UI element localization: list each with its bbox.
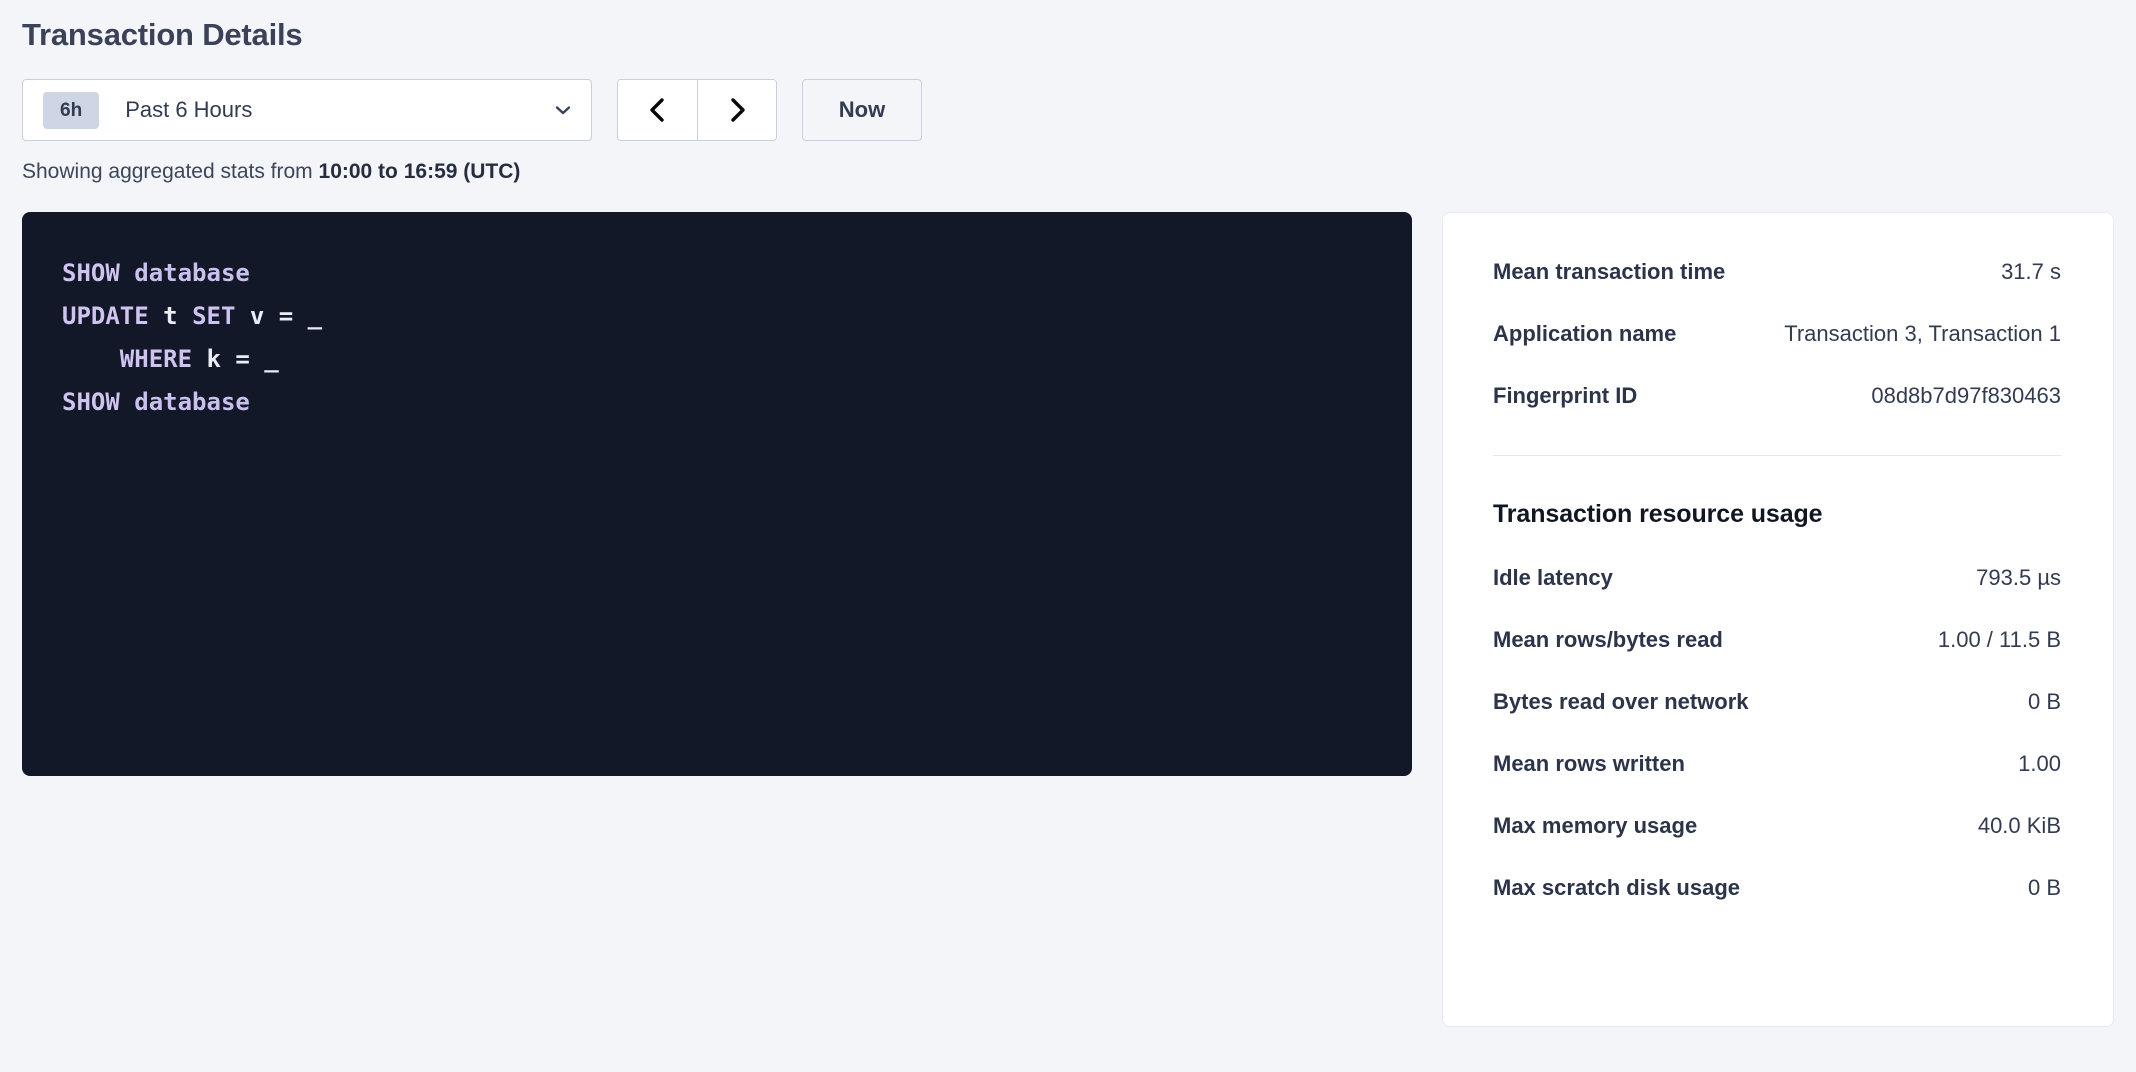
resource-usage-title: Transaction resource usage bbox=[1493, 500, 2061, 529]
aggregation-range-value: 10:00 to 16:59 (UTC) bbox=[319, 160, 521, 183]
code-token: database bbox=[134, 259, 250, 287]
chevron-right-icon bbox=[723, 96, 751, 124]
code-token bbox=[62, 345, 120, 373]
time-range-dropdown[interactable]: 6h Past 6 Hours bbox=[22, 79, 592, 141]
detail-row: Application nameTransaction 3, Transacti… bbox=[1493, 321, 2061, 347]
detail-row-value: 1.00 / 11.5 B bbox=[1938, 627, 2061, 653]
time-range-toolbar: 6h Past 6 Hours bbox=[22, 79, 2114, 141]
detail-row: Mean transaction time31.7 s bbox=[1493, 259, 2061, 285]
transaction-info-card: Mean transaction time31.7 sApplication n… bbox=[1442, 212, 2114, 1027]
detail-row: Mean rows written1.00 bbox=[1493, 751, 2061, 777]
detail-row-value: 31.7 s bbox=[2001, 259, 2061, 285]
transaction-details-page: Transaction Details 6h Past 6 Hours bbox=[0, 0, 2136, 1072]
code-token: database bbox=[134, 388, 250, 416]
detail-row-key: Mean rows/bytes read bbox=[1493, 627, 1723, 653]
time-nav-group bbox=[617, 79, 777, 141]
detail-row: Max memory usage40.0 KiB bbox=[1493, 813, 2061, 839]
aggregation-range-text: Showing aggregated stats from 10:00 to 1… bbox=[22, 159, 2114, 184]
code-token: k = _ bbox=[192, 345, 279, 373]
code-token: SHOW bbox=[62, 388, 120, 416]
detail-row-value: 1.00 bbox=[2018, 751, 2061, 777]
next-period-button[interactable] bbox=[697, 80, 776, 140]
page-title: Transaction Details bbox=[22, 0, 2114, 52]
section-divider bbox=[1493, 455, 2061, 456]
sql-statement-text: SHOW database UPDATE t SET v = _ WHERE k… bbox=[62, 252, 1412, 424]
code-token: SHOW bbox=[62, 259, 120, 287]
detail-row: Mean rows/bytes read1.00 / 11.5 B bbox=[1493, 627, 2061, 653]
code-token: SET bbox=[192, 302, 235, 330]
time-range-badge: 6h bbox=[43, 92, 99, 129]
chevron-down-icon bbox=[553, 100, 573, 120]
content-area: SHOW database UPDATE t SET v = _ WHERE k… bbox=[22, 212, 2114, 1027]
detail-row-key: Max memory usage bbox=[1493, 813, 1697, 839]
aggregation-range-prefix: Showing aggregated stats from bbox=[22, 160, 319, 183]
detail-row-value: Transaction 3, Transaction 1 bbox=[1784, 321, 2061, 347]
now-button[interactable]: Now bbox=[802, 79, 922, 141]
code-token: v = _ bbox=[235, 302, 322, 330]
previous-period-button[interactable] bbox=[618, 80, 697, 140]
code-token: UPDATE bbox=[62, 302, 149, 330]
detail-row-value: 40.0 KiB bbox=[1978, 813, 2061, 839]
code-token: WHERE bbox=[120, 345, 192, 373]
code-token: t bbox=[149, 302, 192, 330]
transaction-details-list: Mean transaction time31.7 sApplication n… bbox=[1493, 259, 2061, 409]
detail-row: Fingerprint ID08d8b7d97f830463 bbox=[1493, 383, 2061, 409]
detail-row: Bytes read over network0 B bbox=[1493, 689, 2061, 715]
detail-row-value: 793.5 µs bbox=[1976, 565, 2061, 591]
code-token bbox=[120, 259, 134, 287]
detail-row-key: Fingerprint ID bbox=[1493, 383, 1637, 409]
resource-usage-list: Idle latency793.5 µsMean rows/bytes read… bbox=[1493, 565, 2061, 901]
detail-row-key: Application name bbox=[1493, 321, 1676, 347]
detail-row-key: Max scratch disk usage bbox=[1493, 875, 1740, 901]
detail-row-value: 08d8b7d97f830463 bbox=[1871, 383, 2061, 409]
detail-row-key: Mean rows written bbox=[1493, 751, 1685, 777]
detail-row-key: Bytes read over network bbox=[1493, 689, 1749, 715]
time-range-label: Past 6 Hours bbox=[125, 97, 553, 123]
detail-row: Max scratch disk usage0 B bbox=[1493, 875, 2061, 901]
sql-statement-card: SHOW database UPDATE t SET v = _ WHERE k… bbox=[22, 212, 1412, 776]
detail-row-value: 0 B bbox=[2028, 689, 2061, 715]
code-token bbox=[120, 388, 134, 416]
detail-row-key: Idle latency bbox=[1493, 565, 1613, 591]
chevron-left-icon bbox=[644, 96, 672, 124]
detail-row-key: Mean transaction time bbox=[1493, 259, 1725, 285]
detail-row-value: 0 B bbox=[2028, 875, 2061, 901]
detail-row: Idle latency793.5 µs bbox=[1493, 565, 2061, 591]
